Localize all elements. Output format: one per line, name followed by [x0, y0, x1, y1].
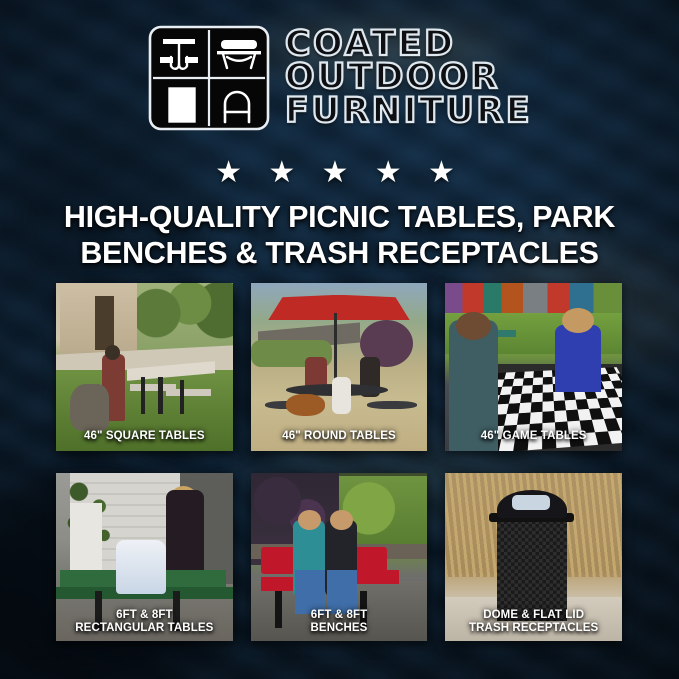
tile-caption-line-2: BENCHES: [253, 622, 426, 635]
wordmark-line-3: FURNITURE: [285, 95, 532, 129]
five-star-rating: ★ ★ ★ ★ ★: [0, 158, 679, 188]
wordmark-line-2: OUTDOOR: [285, 61, 500, 95]
product-category-grid: 46" SQUARE TABLES 46" ROUND TABLES: [56, 283, 622, 641]
headline-line-2: BENCHES & TRASH RECEPTACLES: [30, 236, 649, 272]
tile-caption: 46" SQUARE TABLES: [58, 430, 231, 443]
tile-caption-line-1: 6FT & 8FT: [253, 609, 426, 622]
tile-caption-line-2: RECTANGULAR TABLES: [58, 622, 231, 635]
tile-caption-line-1: DOME & FLAT LID: [447, 609, 620, 622]
tile-caption: 6FT & 8FT RECTANGULAR TABLES: [58, 609, 231, 635]
product-tile-benches[interactable]: 6FT & 8FT BENCHES: [251, 473, 428, 641]
game-tables-photo: [445, 283, 622, 451]
tile-caption-line-2: TRASH RECEPTACLES: [447, 622, 620, 635]
product-tile-round-tables[interactable]: 46" ROUND TABLES: [251, 283, 428, 451]
round-tables-photo: [251, 283, 428, 451]
brand-wordmark: COATED OUTDOOR FURNITURE: [285, 28, 532, 129]
product-tile-game-tables[interactable]: 46" GAME TABLES: [445, 283, 622, 451]
product-tile-square-tables[interactable]: 46" SQUARE TABLES: [56, 283, 233, 451]
product-tile-rectangular-tables[interactable]: 6FT & 8FT RECTANGULAR TABLES: [56, 473, 233, 641]
product-banner: COATED OUTDOOR FURNITURE ★ ★ ★ ★ ★ HIGH-…: [0, 0, 679, 679]
tile-caption: 46" GAME TABLES: [447, 430, 620, 443]
wordmark-line-1: COATED: [285, 28, 456, 62]
tile-caption: 46" ROUND TABLES: [253, 430, 426, 443]
tile-caption-line-1: 6FT & 8FT: [58, 609, 231, 622]
coated-outdoor-furniture-logo-icon: [147, 24, 271, 132]
headline-line-1: HIGH-QUALITY PICNIC TABLES, PARK: [30, 200, 649, 236]
tile-caption: DOME & FLAT LID TRASH RECEPTACLES: [447, 609, 620, 635]
page-title: HIGH-QUALITY PICNIC TABLES, PARK BENCHES…: [30, 200, 649, 271]
tile-caption: 6FT & 8FT BENCHES: [253, 609, 426, 635]
square-tables-photo: [56, 283, 233, 451]
brand-logo-row: COATED OUTDOOR FURNITURE: [0, 24, 679, 132]
product-tile-trash-receptacles[interactable]: DOME & FLAT LID TRASH RECEPTACLES: [445, 473, 622, 641]
